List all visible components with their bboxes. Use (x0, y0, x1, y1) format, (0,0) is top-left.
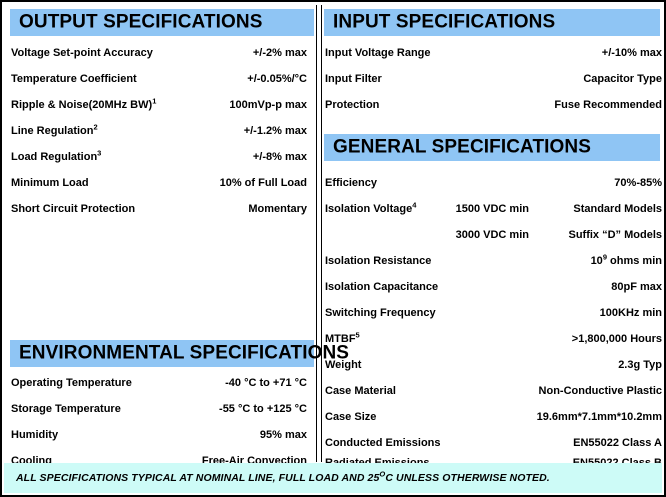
row-label: Case Material (325, 385, 396, 397)
row-temperature-coefficient: Temperature Coefficient +/-0.05%/°C (11, 66, 307, 92)
row-label: Conducted Emissions (325, 437, 441, 449)
row-value: 80pF max (611, 281, 662, 293)
row-value: 95% max (260, 429, 307, 441)
row-value: Fuse Recommended (554, 99, 662, 111)
row-mtbf: MTBF5 >1,800,000 Hours (325, 326, 662, 352)
section-title-output: OUTPUT SPECIFICATIONS (19, 11, 262, 33)
row-value: +/-2% max (253, 47, 307, 59)
row-label: Load Regulation3 (11, 151, 101, 163)
row-value: +/-10% max (602, 47, 662, 59)
row-voltage-set-point-accuracy: Voltage Set-point Accuracy +/-2% max (11, 40, 307, 66)
row-isolation-voltage-suffix-d: 3000 VDC min Suffix “D” Models (325, 222, 662, 248)
row-mid-value: 3000 VDC min (456, 229, 529, 241)
row-label: Efficiency (325, 177, 377, 189)
row-operating-temperature: Operating Temperature -40 °C to +71 °C (11, 370, 307, 396)
row-load-regulation: Load Regulation3 +/-8% max (11, 144, 307, 170)
row-protection: Protection Fuse Recommended (325, 92, 662, 118)
footer-note-text: ALL SPECIFICATIONS TYPICAL AT NOMINAL LI… (16, 472, 550, 484)
row-line-regulation: Line Regulation2 +/-1.2% max (11, 118, 307, 144)
row-label: Isolation Capacitance (325, 281, 438, 293)
row-weight: Weight 2.3g Typ (325, 352, 662, 378)
row-value: 19.6mm*7.1mm*10.2mm (537, 411, 662, 423)
section-header-environmental: ENVIRONMENTAL SPECIFICATIONS (10, 340, 314, 367)
row-value: -55 °C to +125 °C (219, 403, 307, 415)
section-header-general: GENERAL SPECIFICATIONS (324, 134, 660, 161)
row-short-circuit-protection: Short Circuit Protection Momentary (11, 196, 307, 222)
row-value: 100mVp-p max (229, 99, 307, 111)
row-value: Non-Conductive Plastic (539, 385, 662, 397)
row-label: Weight (325, 359, 361, 371)
row-case-material: Case Material Non-Conductive Plastic (325, 378, 662, 404)
row-ripple-and-noise: Ripple & Noise(20MHz BW)1 100mVp-p max (11, 92, 307, 118)
row-humidity: Humidity 95% max (11, 422, 307, 448)
row-label: Temperature Coefficient (11, 73, 137, 85)
footnote-marker: 3 (97, 148, 101, 157)
row-value: >1,800,000 Hours (572, 333, 662, 345)
row-label: Switching Frequency (325, 307, 436, 319)
section-header-output: OUTPUT SPECIFICATIONS (10, 9, 314, 36)
footnote-marker: 1 (152, 96, 156, 105)
row-value: 70%-85% (614, 177, 662, 189)
row-label: Input Voltage Range (325, 47, 431, 59)
section-title-input: INPUT SPECIFICATIONS (333, 11, 555, 33)
row-switching-frequency: Switching Frequency 100KHz min (325, 300, 662, 326)
row-input-filter: Input Filter Capacitor Type (325, 66, 662, 92)
row-label: Isolation Resistance (325, 255, 431, 267)
column-divider (316, 5, 322, 462)
row-label: Voltage Set-point Accuracy (11, 47, 153, 59)
row-label: Minimum Load (11, 177, 89, 189)
footnote-marker: 2 (94, 122, 98, 131)
row-label: Case Size (325, 411, 376, 423)
row-value: 2.3g Typ (618, 359, 662, 371)
row-label: Input Filter (325, 73, 382, 85)
row-label: Ripple & Noise(20MHz BW)1 (11, 99, 156, 111)
row-value: Momentary (248, 203, 307, 215)
row-label: Protection (325, 99, 379, 111)
row-value: EN55022 Class A (573, 437, 662, 449)
row-input-voltage-range: Input Voltage Range +/-10% max (325, 40, 662, 66)
row-value: Standard Models (573, 203, 662, 215)
row-value: +/-1.2% max (244, 125, 307, 137)
row-mid-value: 1500 VDC min (456, 203, 529, 215)
row-value: 100KHz min (600, 307, 662, 319)
row-value: 109 ohms min (591, 255, 662, 267)
specification-sheet: OUTPUT SPECIFICATIONS Voltage Set-point … (0, 0, 666, 497)
row-value: +/-8% max (253, 151, 307, 163)
row-label: Short Circuit Protection (11, 203, 135, 215)
row-value: Capacitor Type (583, 73, 662, 85)
row-label: Operating Temperature (11, 377, 132, 389)
row-label: MTBF5 (325, 333, 360, 345)
row-label: Isolation Voltage4 (325, 203, 416, 215)
row-value: Suffix “D” Models (568, 229, 662, 241)
footer-note-band: ALL SPECIFICATIONS TYPICAL AT NOMINAL LI… (4, 463, 662, 493)
row-value: -40 °C to +71 °C (225, 377, 307, 389)
row-case-size: Case Size 19.6mm*7.1mm*10.2mm (325, 404, 662, 430)
row-storage-temperature: Storage Temperature -55 °C to +125 °C (11, 396, 307, 422)
row-isolation-voltage: Isolation Voltage4 1500 VDC min Standard… (325, 196, 662, 222)
section-title-general: GENERAL SPECIFICATIONS (333, 136, 591, 158)
row-isolation-capacitance: Isolation Capacitance 80pF max (325, 274, 662, 300)
row-value: +/-0.05%/°C (247, 73, 307, 85)
row-label: Humidity (11, 429, 58, 441)
section-header-input: INPUT SPECIFICATIONS (324, 9, 660, 36)
row-isolation-resistance: Isolation Resistance 109 ohms min (325, 248, 662, 274)
row-label: Storage Temperature (11, 403, 121, 415)
row-minimum-load: Minimum Load 10% of Full Load (11, 170, 307, 196)
row-efficiency: Efficiency 70%-85% (325, 170, 662, 196)
footnote-marker: 4 (412, 200, 416, 209)
footnote-marker: 5 (356, 330, 360, 339)
section-title-environmental: ENVIRONMENTAL SPECIFICATIONS (19, 342, 349, 364)
row-label: Line Regulation2 (11, 125, 98, 137)
row-value: 10% of Full Load (220, 177, 307, 189)
